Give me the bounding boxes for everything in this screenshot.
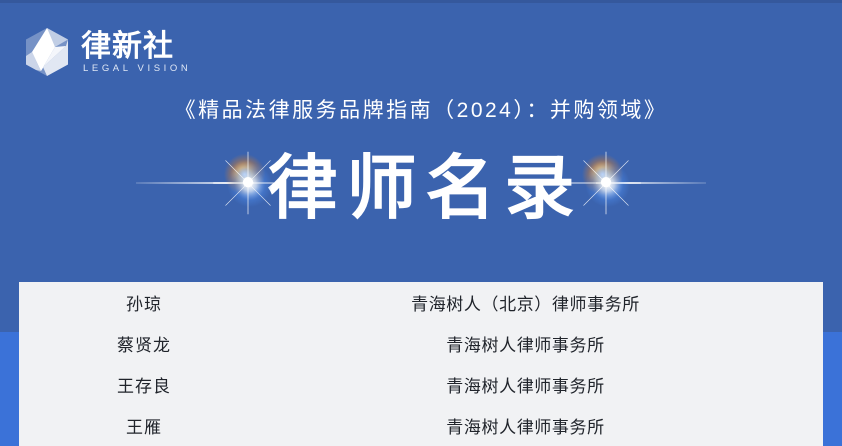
headline-block: 律师名录 [0, 138, 842, 238]
lawyer-name: 王雁 [19, 413, 269, 438]
decorative-rule-right [596, 182, 706, 184]
table-row[interactable]: 王存良 青海树人律师事务所 [19, 364, 823, 405]
law-firm-name: 青海树人律师事务所 [269, 413, 823, 438]
lawyer-roster-panel: 孙琼 青海树人（北京）律师事务所 蔡贤龙 青海树人律师事务所 王存良 青海树人律… [19, 282, 823, 446]
background-top-rim [0, 0, 842, 3]
hexagon-v-logo-icon [22, 26, 72, 78]
decorative-rule-left [136, 182, 254, 184]
guide-subtitle: 《精品法律服务品牌指南（2024）：并购领域》 [0, 96, 842, 126]
table-row[interactable]: 蔡贤龙 青海树人律师事务所 [19, 323, 823, 364]
poster-canvas: 律新社 LEGAL VISION 《精品法律服务品牌指南（2024）：并购领域》 [0, 0, 842, 446]
lawyer-name: 蔡贤龙 [19, 331, 269, 356]
law-firm-name: 青海树人律师事务所 [269, 372, 823, 397]
law-firm-name: 青海树人（北京）律师事务所 [269, 290, 823, 315]
brand-name-cn: 律新社 [81, 31, 191, 63]
brand-wordmark: 律新社 LEGAL VISION [81, 29, 191, 75]
brand-name-en: LEGAL VISION [81, 63, 191, 75]
table-row[interactable]: 王雁 青海树人律师事务所 [19, 405, 823, 446]
lawyer-name: 王存良 [19, 372, 269, 397]
table-row[interactable]: 孙琼 青海树人（北京）律师事务所 [19, 282, 823, 323]
brand-logo[interactable]: 律新社 LEGAL VISION [22, 26, 191, 78]
law-firm-name: 青海树人律师事务所 [269, 331, 823, 356]
lawyer-name: 孙琼 [19, 290, 269, 315]
page-title: 律师名录 [259, 145, 584, 231]
